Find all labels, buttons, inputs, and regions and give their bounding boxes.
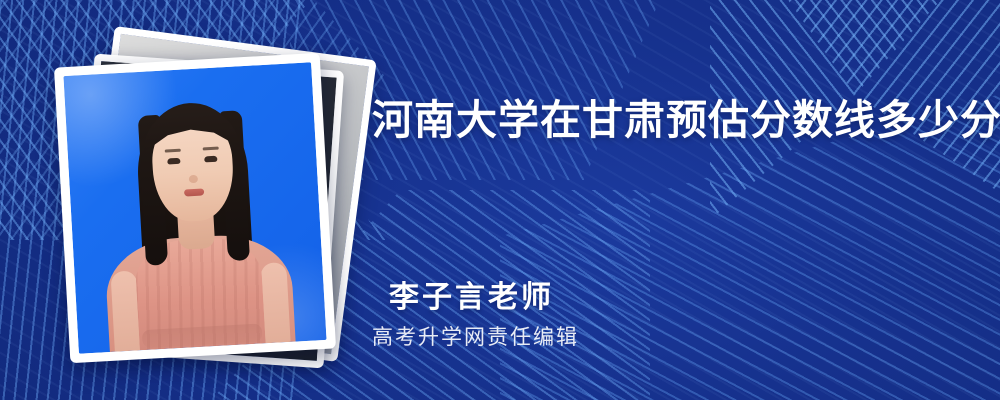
banner-text-column: 河南大学在甘肃预估分数线多少分 李子言老师 高考升学网责任编辑	[372, 0, 972, 400]
author-role: 高考升学网责任编辑	[372, 321, 579, 351]
portrait-eye-right	[204, 156, 217, 163]
banner-headline: 河南大学在甘肃预估分数线多少分	[372, 96, 1000, 145]
photo-card-stack	[62, 48, 344, 348]
article-cover-banner: 河南大学在甘肃预估分数线多少分 李子言老师 高考升学网责任编辑	[0, 0, 1000, 400]
portrait-figure	[63, 62, 326, 353]
author-name: 李子言老师	[389, 272, 554, 316]
portrait-mouth	[184, 188, 204, 196]
portrait-eye-left	[167, 158, 180, 165]
photo-card-front	[54, 53, 336, 363]
portrait-photo	[63, 62, 326, 353]
